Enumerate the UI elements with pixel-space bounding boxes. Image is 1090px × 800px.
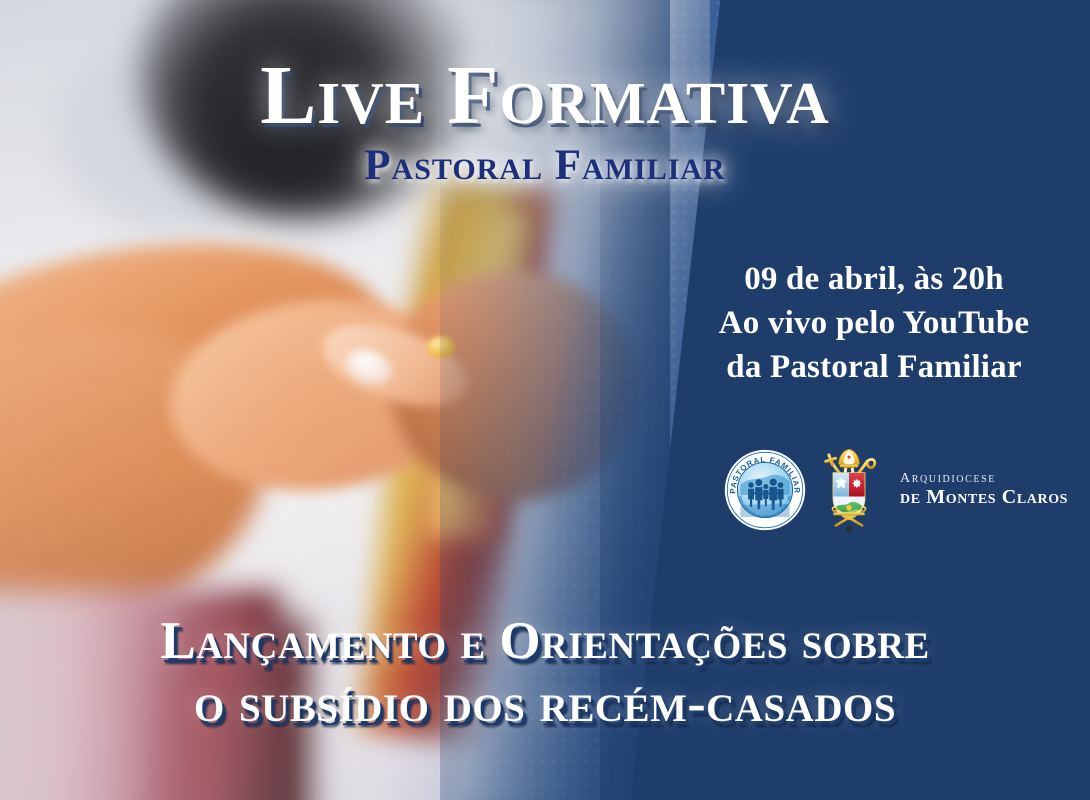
poster: Live Formativa Pastoral Familiar 09 de a… bbox=[0, 0, 1090, 800]
archdiocese-wordmark: Arquidiocese de Montes Claros bbox=[900, 472, 1068, 509]
headline-block: Lançamento e Orientações sobre o subsídi… bbox=[0, 612, 1090, 734]
logo-row: PASTORAL FAMILIAR ARQUIDIOCESE DE MONTES… bbox=[724, 440, 1054, 540]
event-channel: Ao vivo pelo YouTube bbox=[672, 302, 1076, 346]
event-host: da Pastoral Familiar bbox=[672, 346, 1076, 390]
headline-line-1: Lançamento e Orientações sobre bbox=[0, 612, 1090, 672]
event-date-time: 09 de abril, às 20h bbox=[672, 258, 1076, 302]
wordmark-line-top: Arquidiocese bbox=[900, 472, 1068, 487]
wordmark-line-bottom: de Montes Claros bbox=[900, 487, 1068, 508]
pastoral-familiar-badge-icon: PASTORAL FAMILIAR ARQUIDIOCESE DE MONTES… bbox=[724, 449, 806, 531]
archdiocese-coat-of-arms-icon bbox=[816, 444, 882, 536]
event-details: 09 de abril, às 20h Ao vivo pelo YouTube… bbox=[672, 258, 1076, 390]
headline-line-2: o subsídio dos recém-casados bbox=[0, 672, 1090, 734]
